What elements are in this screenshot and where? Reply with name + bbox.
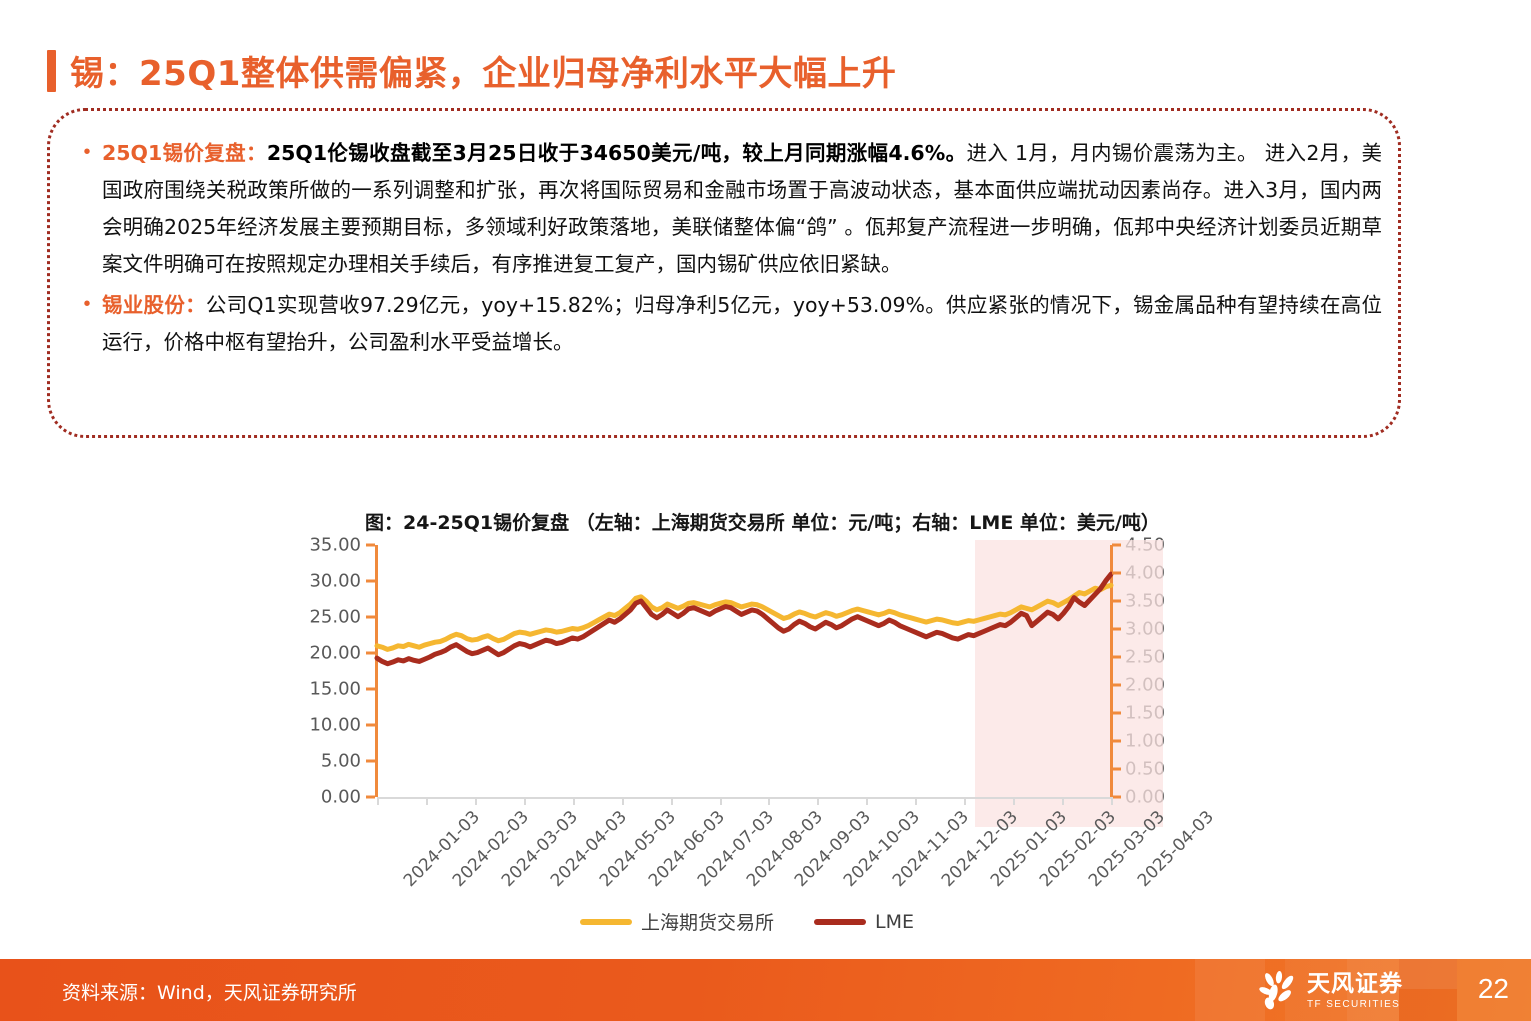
- list-item: • 锡业股份：公司Q1实现营收97.29亿元，yoy+15.82%；归母净利5亿…: [72, 287, 1382, 361]
- line-shfe: [377, 585, 1111, 649]
- axis-tick-mark: [1112, 796, 1121, 799]
- axis-tick-mark: [866, 797, 868, 805]
- bullet-rest: 公司Q1实现营收97.29亿元，yoy+15.82%；归母净利5亿元，yoy+5…: [102, 293, 1382, 354]
- footer-bar: 资料来源：Wind，天风证券研究所 天风证券 TF SECURITIES 22: [0, 959, 1531, 1021]
- axis-tick-label: 0.00: [297, 787, 369, 808]
- axis-tick-mark: [366, 652, 375, 655]
- axis-tick-mark: [720, 797, 722, 805]
- page-title: 锡：25Q1整体供需偏紧，企业归母净利水平大幅上升: [47, 46, 896, 95]
- title-text: 锡：25Q1整体供需偏紧，企业归母净利水平大幅上升: [70, 46, 896, 95]
- chart: 0.005.0010.0015.0020.0025.0030.0035.00 0…: [297, 545, 1197, 965]
- axis-tick-mark: [366, 724, 375, 727]
- chart-title: 图：24-25Q1锡价复盘 （左轴：上海期货交易所 单位：元/吨；右轴：LME …: [365, 508, 1160, 535]
- axis-tick-mark: [768, 797, 770, 805]
- axis-tick-mark: [1111, 797, 1113, 805]
- axis-tick-mark: [366, 796, 375, 799]
- bullet-lead: 25Q1锡价复盘：: [102, 141, 267, 165]
- chart-legend: 上海期货交易所 LME: [297, 908, 1197, 935]
- series-lines: [377, 545, 1111, 797]
- axis-tick-label: 5.00: [297, 751, 369, 772]
- axis-tick-mark: [366, 580, 375, 583]
- axis-tick-label: 30.00: [297, 571, 369, 592]
- axis-tick-label: 15.00: [297, 679, 369, 700]
- axis-tick-mark: [366, 616, 375, 619]
- x-axis-labels: 2024-01-032024-02-032024-03-032024-04-03…: [377, 807, 1111, 917]
- legend-swatch: [580, 919, 632, 925]
- axis-tick-mark: [1112, 768, 1121, 771]
- axis-tick-mark: [964, 797, 966, 805]
- axis-tick-mark: [817, 797, 819, 805]
- list-item: • 25Q1锡价复盘：25Q1伦锡收盘截至3月25日收于34650美元/吨，较上…: [72, 135, 1382, 283]
- axis-tick-mark: [1112, 600, 1121, 603]
- line-lme: [377, 574, 1111, 664]
- axis-tick-label: 25.00: [297, 607, 369, 628]
- callout-box: • 25Q1锡价复盘：25Q1伦锡收盘截至3月25日收于34650美元/吨，较上…: [47, 108, 1401, 438]
- axis-tick-mark: [366, 760, 375, 763]
- slide-root: 锡：25Q1整体供需偏紧，企业归母净利水平大幅上升 • 25Q1锡价复盘：25Q…: [0, 0, 1531, 1021]
- axis-tick-mark: [377, 797, 379, 805]
- axis-tick-mark: [622, 797, 624, 805]
- axis-tick-mark: [1112, 544, 1121, 547]
- axis-tick-mark: [426, 797, 428, 805]
- axis-tick-label: 35.00: [297, 535, 369, 556]
- bullet-lead: 锡业股份：: [102, 293, 206, 317]
- legend-item-lme: LME: [814, 911, 914, 933]
- axis-tick-label: 10.00: [297, 715, 369, 736]
- axis-tick-label: 20.00: [297, 643, 369, 664]
- axis-tick-mark: [524, 797, 526, 805]
- flower-icon: [1257, 971, 1299, 1011]
- axis-tick-mark: [366, 544, 375, 547]
- axis-tick-mark: [915, 797, 917, 805]
- source-text: 资料来源：Wind，天风证券研究所: [62, 978, 357, 1005]
- axis-tick-mark: [1112, 628, 1121, 631]
- axis-tick-mark: [1112, 740, 1121, 743]
- legend-label: LME: [875, 911, 914, 933]
- axis-tick-mark: [1013, 797, 1015, 805]
- legend-swatch: [814, 919, 866, 925]
- bullet-list: • 25Q1锡价复盘：25Q1伦锡收盘截至3月25日收于34650美元/吨，较上…: [72, 135, 1382, 365]
- brand-text: 天风证券 TF SECURITIES: [1307, 973, 1403, 1010]
- axis-tick-mark: [1112, 684, 1121, 687]
- legend-item-shfe: 上海期货交易所: [580, 908, 774, 935]
- legend-label: 上海期货交易所: [641, 908, 774, 935]
- axis-tick-mark: [573, 797, 575, 805]
- x-axis-line: [377, 797, 1111, 799]
- brand-name-cn: 天风证券: [1307, 973, 1403, 996]
- bullet-bold: 25Q1伦锡收盘截至3月25日收于34650美元/吨，较上月同期涨幅4.6%。: [267, 141, 967, 165]
- axis-tick-mark: [1112, 656, 1121, 659]
- title-accent-bar: [47, 50, 56, 92]
- bullet-marker: •: [72, 287, 102, 321]
- plot-area: [377, 545, 1111, 797]
- y-axis-left: 0.005.0010.0015.0020.0025.0030.0035.00: [297, 545, 369, 797]
- brand-logo: 天风证券 TF SECURITIES: [1257, 971, 1403, 1011]
- axis-tick-mark: [1062, 797, 1064, 805]
- page-number: 22: [1478, 973, 1509, 1005]
- bullet-text: 25Q1锡价复盘：25Q1伦锡收盘截至3月25日收于34650美元/吨，较上月同…: [102, 135, 1382, 283]
- axis-tick-mark: [475, 797, 477, 805]
- axis-tick-mark: [366, 688, 375, 691]
- bullet-marker: •: [72, 135, 102, 169]
- axis-tick-mark: [1112, 712, 1121, 715]
- brand-name-en: TF SECURITIES: [1307, 1000, 1403, 1010]
- axis-tick-mark: [671, 797, 673, 805]
- bullet-text: 锡业股份：公司Q1实现营收97.29亿元，yoy+15.82%；归母净利5亿元，…: [102, 287, 1382, 361]
- axis-tick-mark: [1112, 572, 1121, 575]
